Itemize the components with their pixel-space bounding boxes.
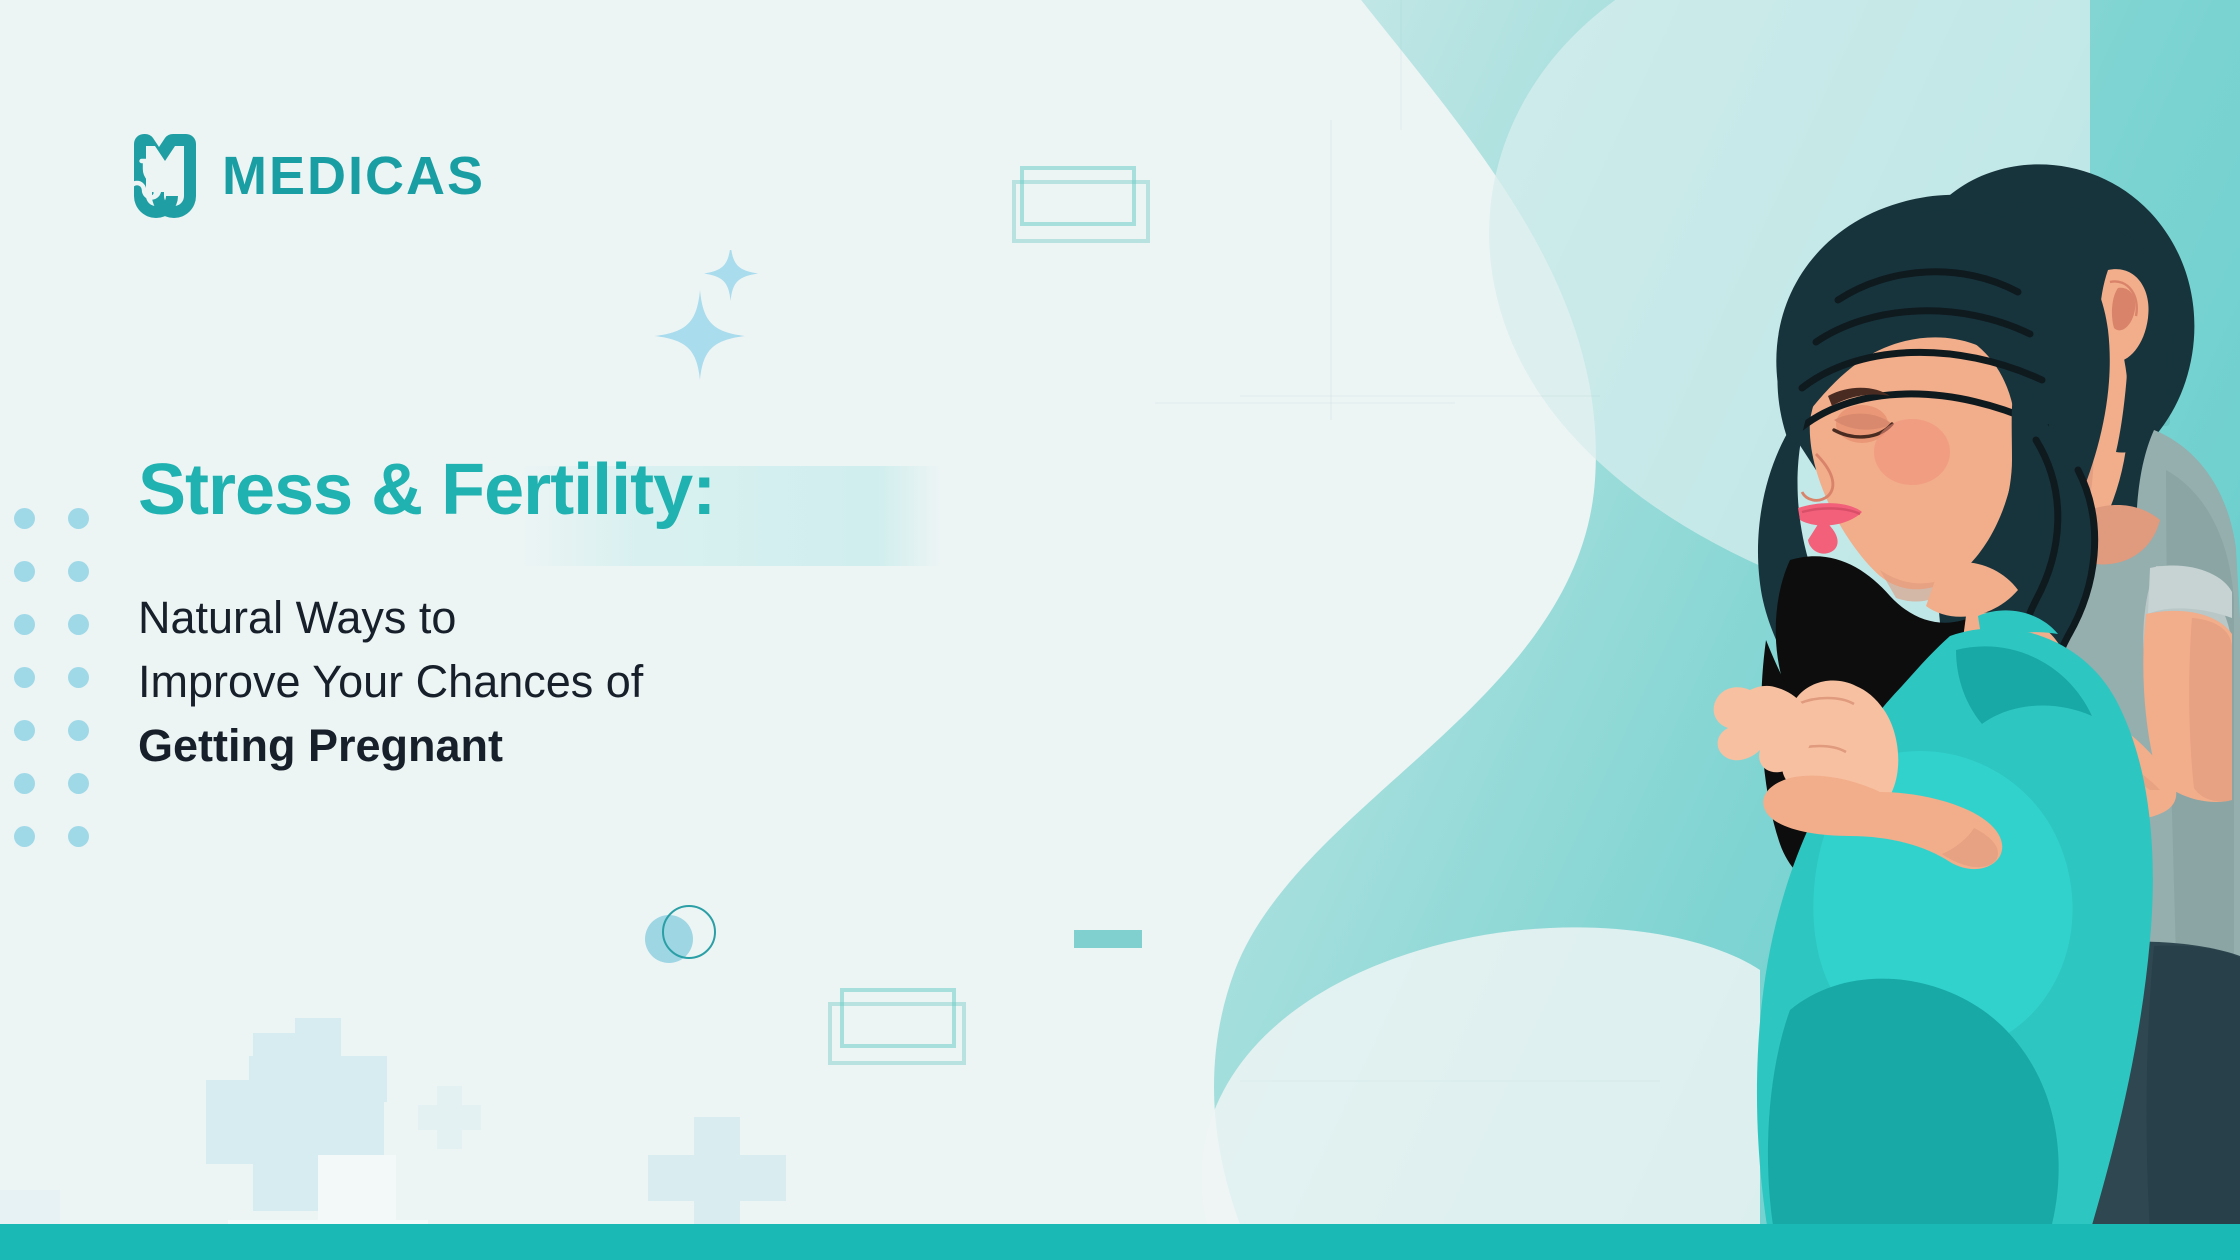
dot-grid-decoration	[14, 508, 89, 879]
grid-dot	[14, 667, 35, 688]
grid-dot	[68, 561, 89, 582]
grid-dot	[14, 826, 35, 847]
sparkle-icon	[655, 250, 775, 380]
grid-dot	[68, 720, 89, 741]
grid-dot	[14, 561, 35, 582]
medical-cross-pattern	[0, 900, 980, 1260]
bottom-accent-bar	[0, 1224, 2240, 1260]
grid-dot	[14, 614, 35, 635]
brand-logo[interactable]: MEDICAS	[122, 134, 485, 218]
brand-name: MEDICAS	[222, 149, 485, 203]
stethoscope-m-monogram-icon	[122, 134, 196, 218]
pregnant-couple-illustration	[1150, 0, 2240, 1232]
grid-dot	[14, 508, 35, 529]
subtitle-line-2: Improve Your Chances of	[138, 650, 1058, 714]
grid-dot	[68, 826, 89, 847]
grid-dot	[14, 720, 35, 741]
grid-dot	[14, 773, 35, 794]
grid-dot	[68, 508, 89, 529]
page-subtitle: Natural Ways to Improve Your Chances of …	[138, 586, 1058, 778]
teal-dash-decoration	[1074, 930, 1142, 948]
outline-rectangle-decoration	[1020, 166, 1136, 226]
hero-banner: MEDICAS Stress & Fertility: Natural Ways…	[0, 0, 2240, 1260]
page-title: Stress & Fertility:	[138, 452, 1038, 530]
grid-dot	[68, 667, 89, 688]
subtitle-line-3: Getting Pregnant	[138, 714, 1058, 778]
grid-dot	[68, 614, 89, 635]
grid-dot	[68, 773, 89, 794]
subtitle-line-1: Natural Ways to	[138, 586, 1058, 650]
